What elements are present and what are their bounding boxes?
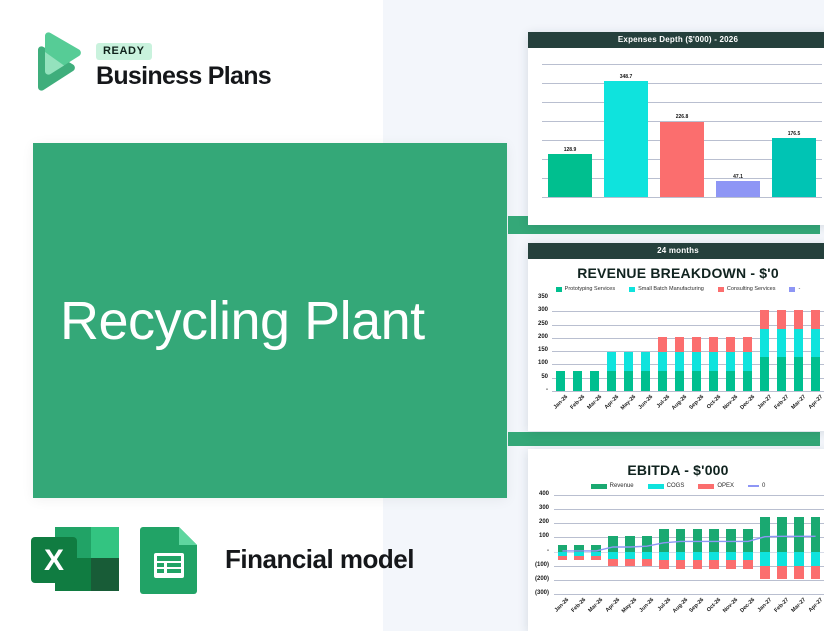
plot-area-expenses: 128.9348.7226.847.1176.5 bbox=[528, 48, 824, 211]
chart-bar bbox=[604, 81, 648, 197]
legend-color-swatch bbox=[718, 287, 724, 292]
chart-bar-label: 128.9 bbox=[548, 147, 592, 153]
chart-stack-segment bbox=[590, 371, 599, 391]
chart-stack-column bbox=[794, 298, 803, 391]
chart-stack-segment bbox=[692, 371, 701, 391]
chart-legend-revenue: Prototyping ServicesSmall Batch Manufact… bbox=[528, 283, 824, 294]
chart-bar bbox=[660, 122, 704, 197]
brand-lockup: READY Business Plans bbox=[28, 30, 271, 92]
chart-stack-column bbox=[692, 298, 701, 391]
y-axis-tick: 350 bbox=[528, 294, 548, 300]
legend-color-swatch bbox=[789, 287, 795, 292]
chart-stack-segment bbox=[692, 352, 701, 371]
chart-stack-segment bbox=[675, 352, 684, 371]
chart-stack-segment bbox=[794, 329, 803, 357]
gridline bbox=[552, 391, 824, 392]
microsoft-excel-icon: X bbox=[27, 523, 123, 595]
chart-stack-segment bbox=[692, 337, 701, 352]
legend-item: 0 bbox=[748, 483, 765, 489]
chart-stack-segment bbox=[556, 371, 565, 391]
chart-stack-segment bbox=[726, 371, 735, 391]
y-axis-tick: 250 bbox=[528, 321, 548, 327]
chart-title-expenses: Expenses Depth ($'000) - 2026 bbox=[528, 32, 824, 48]
svg-text:X: X bbox=[44, 544, 64, 577]
play-triangles-logo-icon bbox=[28, 30, 86, 92]
chart-stack-segment bbox=[658, 371, 667, 391]
chart-stack-segment bbox=[658, 352, 667, 371]
google-sheets-icon bbox=[137, 523, 203, 595]
y-axis-tick: 150 bbox=[528, 347, 548, 353]
chart-stack-column bbox=[641, 298, 650, 391]
chart-stack-segment bbox=[658, 337, 667, 352]
chart-stack-segment bbox=[794, 357, 803, 391]
chart-stack-column bbox=[556, 298, 565, 391]
chart-stack-segment bbox=[624, 371, 633, 391]
chart-bar bbox=[772, 138, 816, 197]
plot-area-ebitda: 400300200100-(100)(200)(300)Jan-26Feb-26… bbox=[528, 491, 824, 624]
chart-stack-segment bbox=[709, 371, 718, 391]
chart-stack-segment bbox=[641, 371, 650, 391]
slide-canvas: READY Business Plans Recycling Plant X bbox=[0, 0, 824, 631]
legend-item: Revenue bbox=[591, 483, 634, 489]
chart-stack-segment bbox=[743, 352, 752, 371]
chart-card-revenue: 24 months REVENUE BREAKDOWN - $'0 Protot… bbox=[528, 243, 824, 431]
plot-area-revenue: 35030025020015010050-Jan-26Feb-26Mar-26A… bbox=[528, 294, 824, 419]
chart-stack-segment bbox=[760, 329, 769, 357]
legend-label: Small Batch Manufacturing bbox=[638, 286, 704, 292]
chart-stack-column bbox=[777, 298, 786, 391]
legend-color-swatch bbox=[591, 484, 607, 489]
legend-color-swatch bbox=[556, 287, 562, 292]
chart-stack-segment bbox=[794, 310, 803, 329]
chart-stack-segment bbox=[811, 357, 820, 391]
chart-stack-segment bbox=[743, 371, 752, 391]
chart-stack-segment bbox=[760, 357, 769, 391]
chart-stack-segment bbox=[607, 371, 616, 391]
legend-label: - bbox=[798, 286, 800, 292]
legend-item: Small Batch Manufacturing bbox=[629, 286, 704, 292]
chart-stack-segment bbox=[811, 329, 820, 357]
legend-label: OPEX bbox=[717, 483, 734, 489]
chart-stack-segment bbox=[641, 352, 650, 371]
brand-name: Business Plans bbox=[96, 63, 271, 89]
chart-legend-ebitda: RevenueCOGSOPEX0 bbox=[528, 480, 824, 491]
legend-color-swatch bbox=[648, 484, 664, 489]
chart-stack-column bbox=[743, 298, 752, 391]
gridline bbox=[542, 83, 822, 84]
gridline bbox=[542, 64, 822, 65]
legend-item: OPEX bbox=[698, 483, 734, 489]
chart-card-ebitda: EBITDA - $'000 RevenueCOGSOPEX0 40030020… bbox=[528, 449, 824, 631]
legend-label: 0 bbox=[762, 483, 765, 489]
legend-item: - bbox=[789, 286, 800, 292]
legend-label: COGS bbox=[667, 483, 685, 489]
y-axis-tick: - bbox=[528, 387, 548, 393]
chart-stack-column bbox=[573, 298, 582, 391]
chart-bar-label: 47.1 bbox=[716, 174, 760, 180]
chart-stack-segment bbox=[573, 371, 582, 391]
chart-stack-segment bbox=[709, 337, 718, 352]
chart-bar bbox=[548, 154, 592, 197]
title-block: Recycling Plant bbox=[33, 143, 507, 498]
chart-stack-column bbox=[624, 298, 633, 391]
chart-stack-column bbox=[811, 298, 820, 391]
chart-stack-segment bbox=[675, 337, 684, 352]
chart-bar-label: 348.7 bbox=[604, 74, 648, 80]
chart-stack-segment bbox=[624, 352, 633, 371]
chart-stack-column bbox=[658, 298, 667, 391]
gridline bbox=[542, 102, 822, 103]
legend-label: Prototyping Services bbox=[565, 286, 615, 292]
chart-title-ebitda: EBITDA - $'000 bbox=[528, 449, 824, 480]
y-axis-tick: 200 bbox=[528, 334, 548, 340]
gridline bbox=[542, 197, 822, 198]
chart-stack-segment bbox=[760, 310, 769, 329]
legend-label: Consulting Services bbox=[727, 286, 776, 292]
chart-stack-segment bbox=[777, 357, 786, 391]
y-axis-tick: 100 bbox=[528, 360, 548, 366]
chart-bar-label: 176.5 bbox=[772, 131, 816, 137]
page-title: Recycling Plant bbox=[60, 143, 425, 498]
chart-stack-column bbox=[607, 298, 616, 391]
legend-color-swatch bbox=[629, 287, 635, 292]
chart-stack-column bbox=[760, 298, 769, 391]
chart-stack-segment bbox=[777, 310, 786, 329]
chart-stack-segment bbox=[675, 371, 684, 391]
chart-stack-segment bbox=[607, 352, 616, 371]
chart-stack-segment bbox=[777, 329, 786, 357]
legend-label: Revenue bbox=[610, 483, 634, 489]
chart-stack-column bbox=[726, 298, 735, 391]
footer-row: X Financial model bbox=[27, 523, 414, 595]
chart-header-revenue: 24 months bbox=[528, 243, 824, 259]
chart-bar bbox=[716, 181, 760, 197]
chart-stack-segment bbox=[743, 337, 752, 352]
brand-text: READY Business Plans bbox=[96, 30, 271, 89]
chart-stack-segment bbox=[811, 310, 820, 329]
legend-item: Prototyping Services bbox=[556, 286, 615, 292]
chart-card-expenses: Expenses Depth ($'000) - 2026 128.9348.7… bbox=[528, 32, 824, 225]
chart-stack-column bbox=[675, 298, 684, 391]
chart-stack-column bbox=[590, 298, 599, 391]
y-axis-tick: 50 bbox=[528, 374, 548, 380]
legend-item: Consulting Services bbox=[718, 286, 776, 292]
chart-stack-segment bbox=[709, 352, 718, 371]
chart-title-revenue: REVENUE BREAKDOWN - $'0 bbox=[528, 259, 824, 283]
ebitda-zero-line bbox=[528, 491, 824, 624]
legend-line-swatch bbox=[748, 485, 759, 487]
legend-color-swatch bbox=[698, 484, 714, 489]
green-accent-bar-2 bbox=[508, 432, 820, 446]
chart-stack-segment bbox=[726, 352, 735, 371]
chart-stack-segment bbox=[726, 337, 735, 352]
ready-badge: READY bbox=[96, 43, 152, 60]
y-axis-tick: 300 bbox=[528, 307, 548, 313]
chart-stack-column bbox=[709, 298, 718, 391]
chart-bar-label: 226.8 bbox=[660, 114, 704, 120]
legend-item: COGS bbox=[648, 483, 685, 489]
footer-label: Financial model bbox=[225, 544, 414, 575]
